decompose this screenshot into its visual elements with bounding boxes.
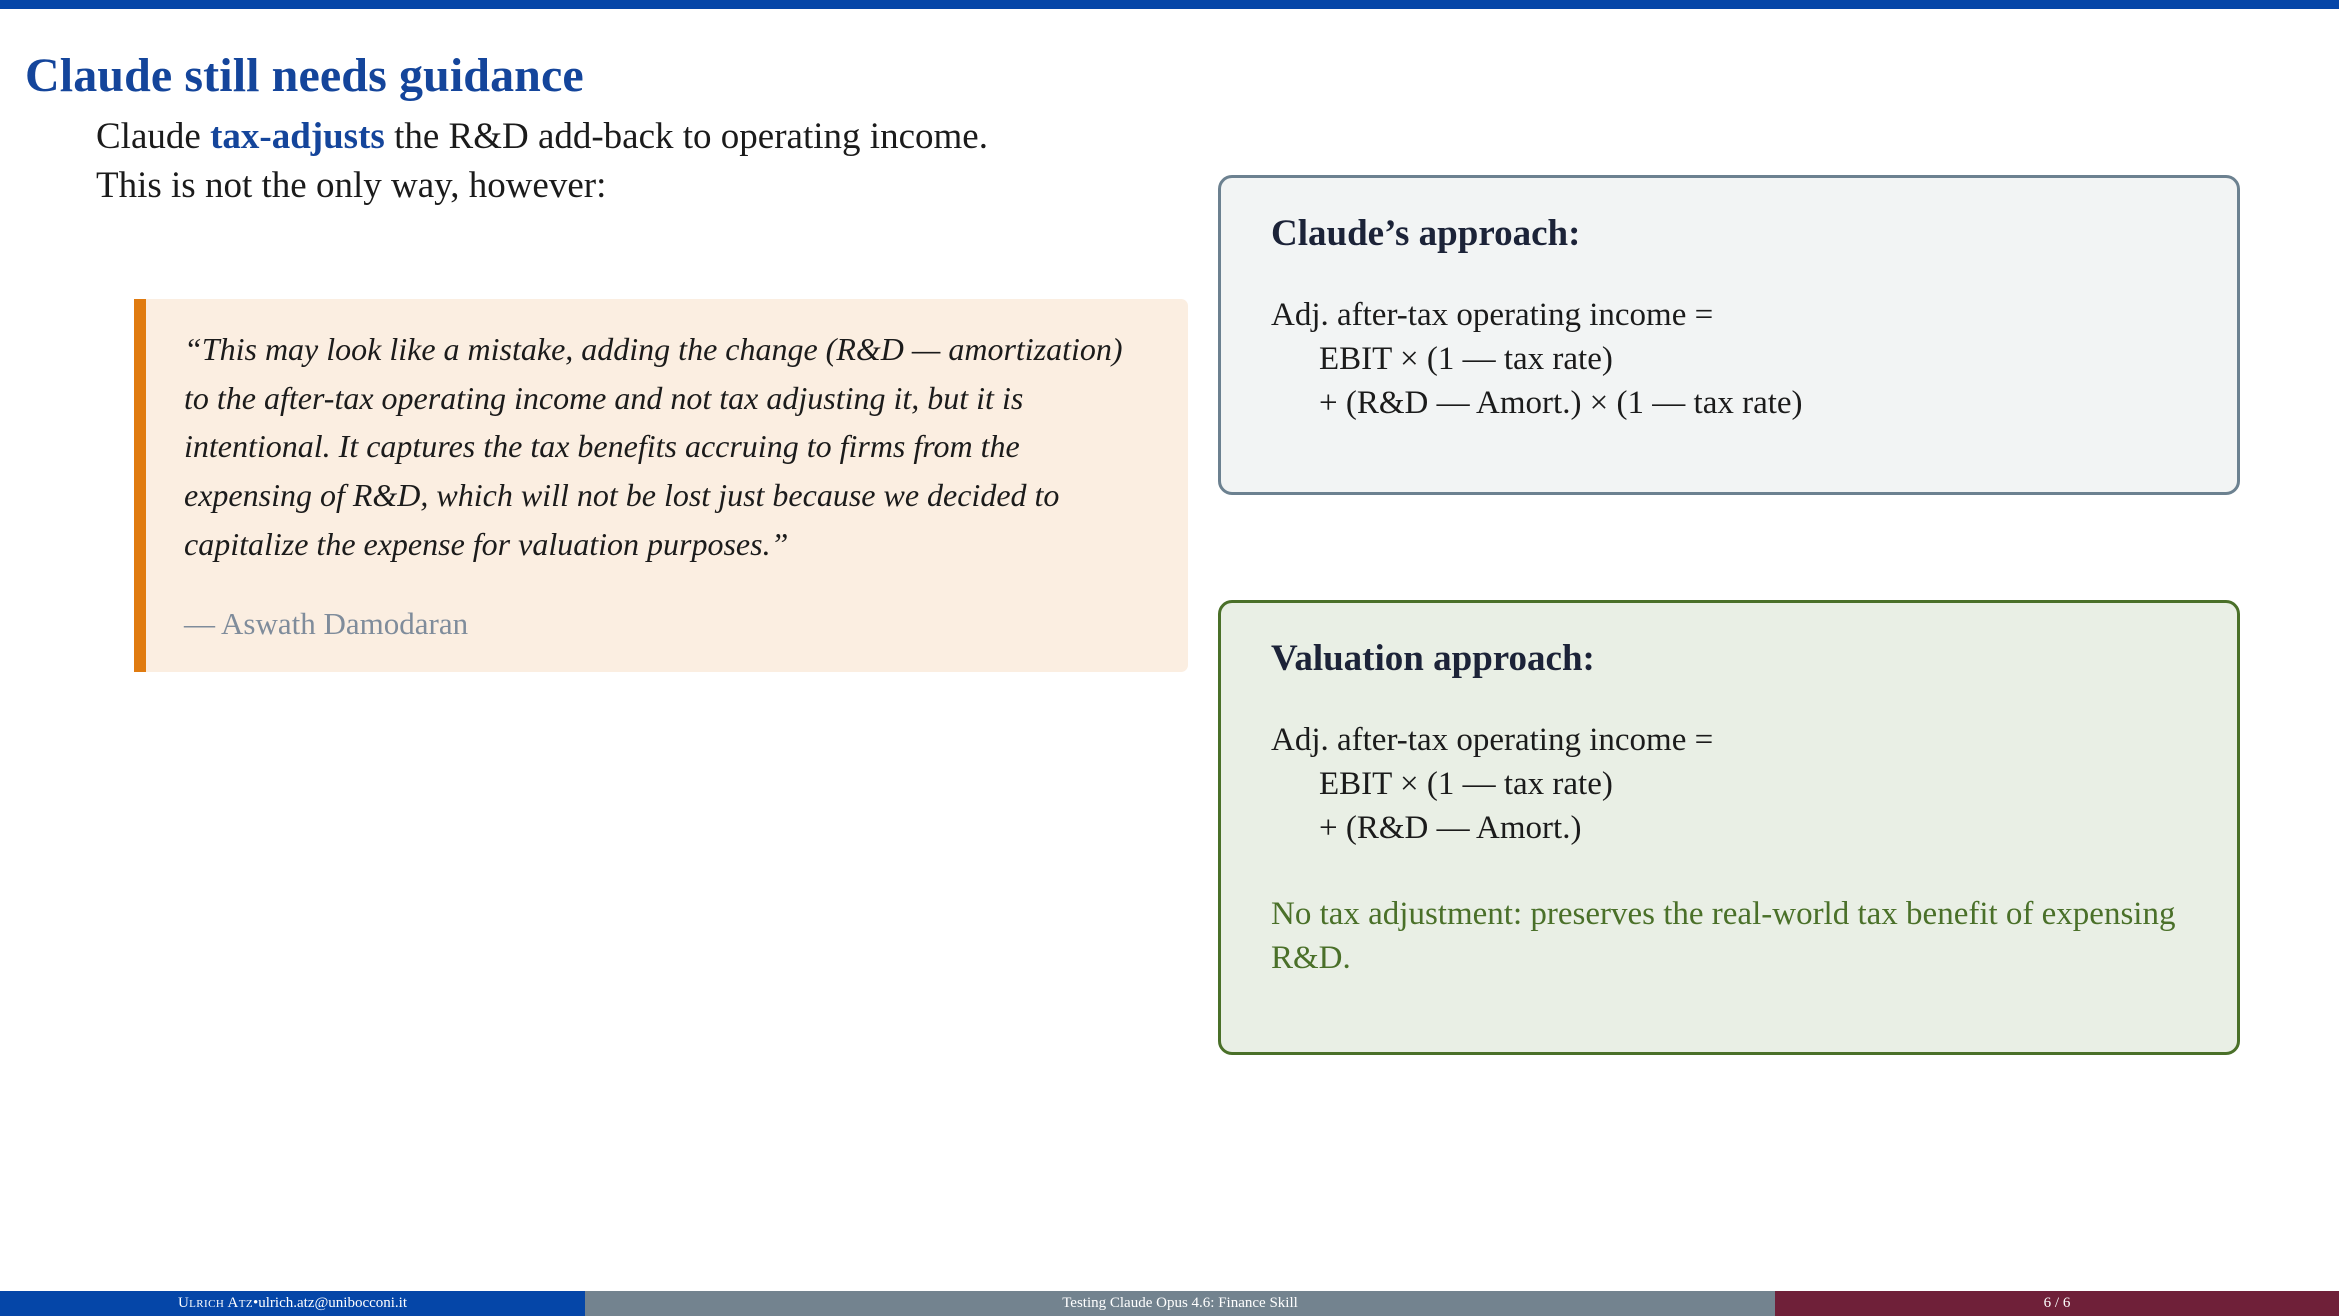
quote-callout: “This may look like a mistake, adding th… [134,299,1188,672]
footer-author: Ulrich Atz • ulrich.atz@unibocconi.it [0,1291,585,1316]
valuation-formula-line-3: + (R&D — Amort.) [1271,806,2193,850]
left-content-column: Claude tax-adjusts the R&D add-back to o… [96,112,1148,210]
valuation-approach-heading: Valuation approach: [1271,637,2193,680]
claude-approach-heading: Claude’s approach: [1271,212,2193,255]
quote-text: “This may look like a mistake, adding th… [184,325,1148,568]
page-title: Claude still needs guidance [25,48,584,103]
quote-attribution: — Aswath Damodaran [184,606,1148,642]
valuation-approach-box: Valuation approach: Adj. after-tax opera… [1218,600,2240,1055]
intro-paragraph: Claude tax-adjusts the R&D add-back to o… [96,112,1056,210]
top-accent-bar [0,0,2339,9]
claude-approach-formula: Adj. after-tax operating income = EBIT ×… [1271,293,2193,426]
footer-page-number: 6 / 6 [1775,1291,2339,1316]
slide-footer: Ulrich Atz • ulrich.atz@unibocconi.it Te… [0,1291,2339,1316]
intro-text-before: Claude [96,116,210,157]
claude-formula-line-3: + (R&D — Amort.) × (1 — tax rate) [1271,381,2193,425]
valuation-formula-line-1: Adj. after-tax operating income = [1271,722,1713,758]
valuation-formula-line-2: EBIT × (1 — tax rate) [1271,762,2193,806]
valuation-note: No tax adjustment: preserves the real-wo… [1271,893,2193,981]
valuation-approach-formula: Adj. after-tax operating income = EBIT ×… [1271,718,2193,851]
footer-author-name: Ulrich Atz [178,1295,253,1312]
claude-formula-line-2: EBIT × (1 — tax rate) [1271,337,2193,381]
intro-highlight-term: tax-adjusts [210,116,385,157]
footer-deck-title: Testing Claude Opus 4.6: Finance Skill [585,1291,1775,1316]
claude-approach-box: Claude’s approach: Adj. after-tax operat… [1218,175,2240,495]
claude-formula-line-1: Adj. after-tax operating income = [1271,297,1713,333]
footer-author-email: ulrich.atz@unibocconi.it [258,1295,407,1312]
